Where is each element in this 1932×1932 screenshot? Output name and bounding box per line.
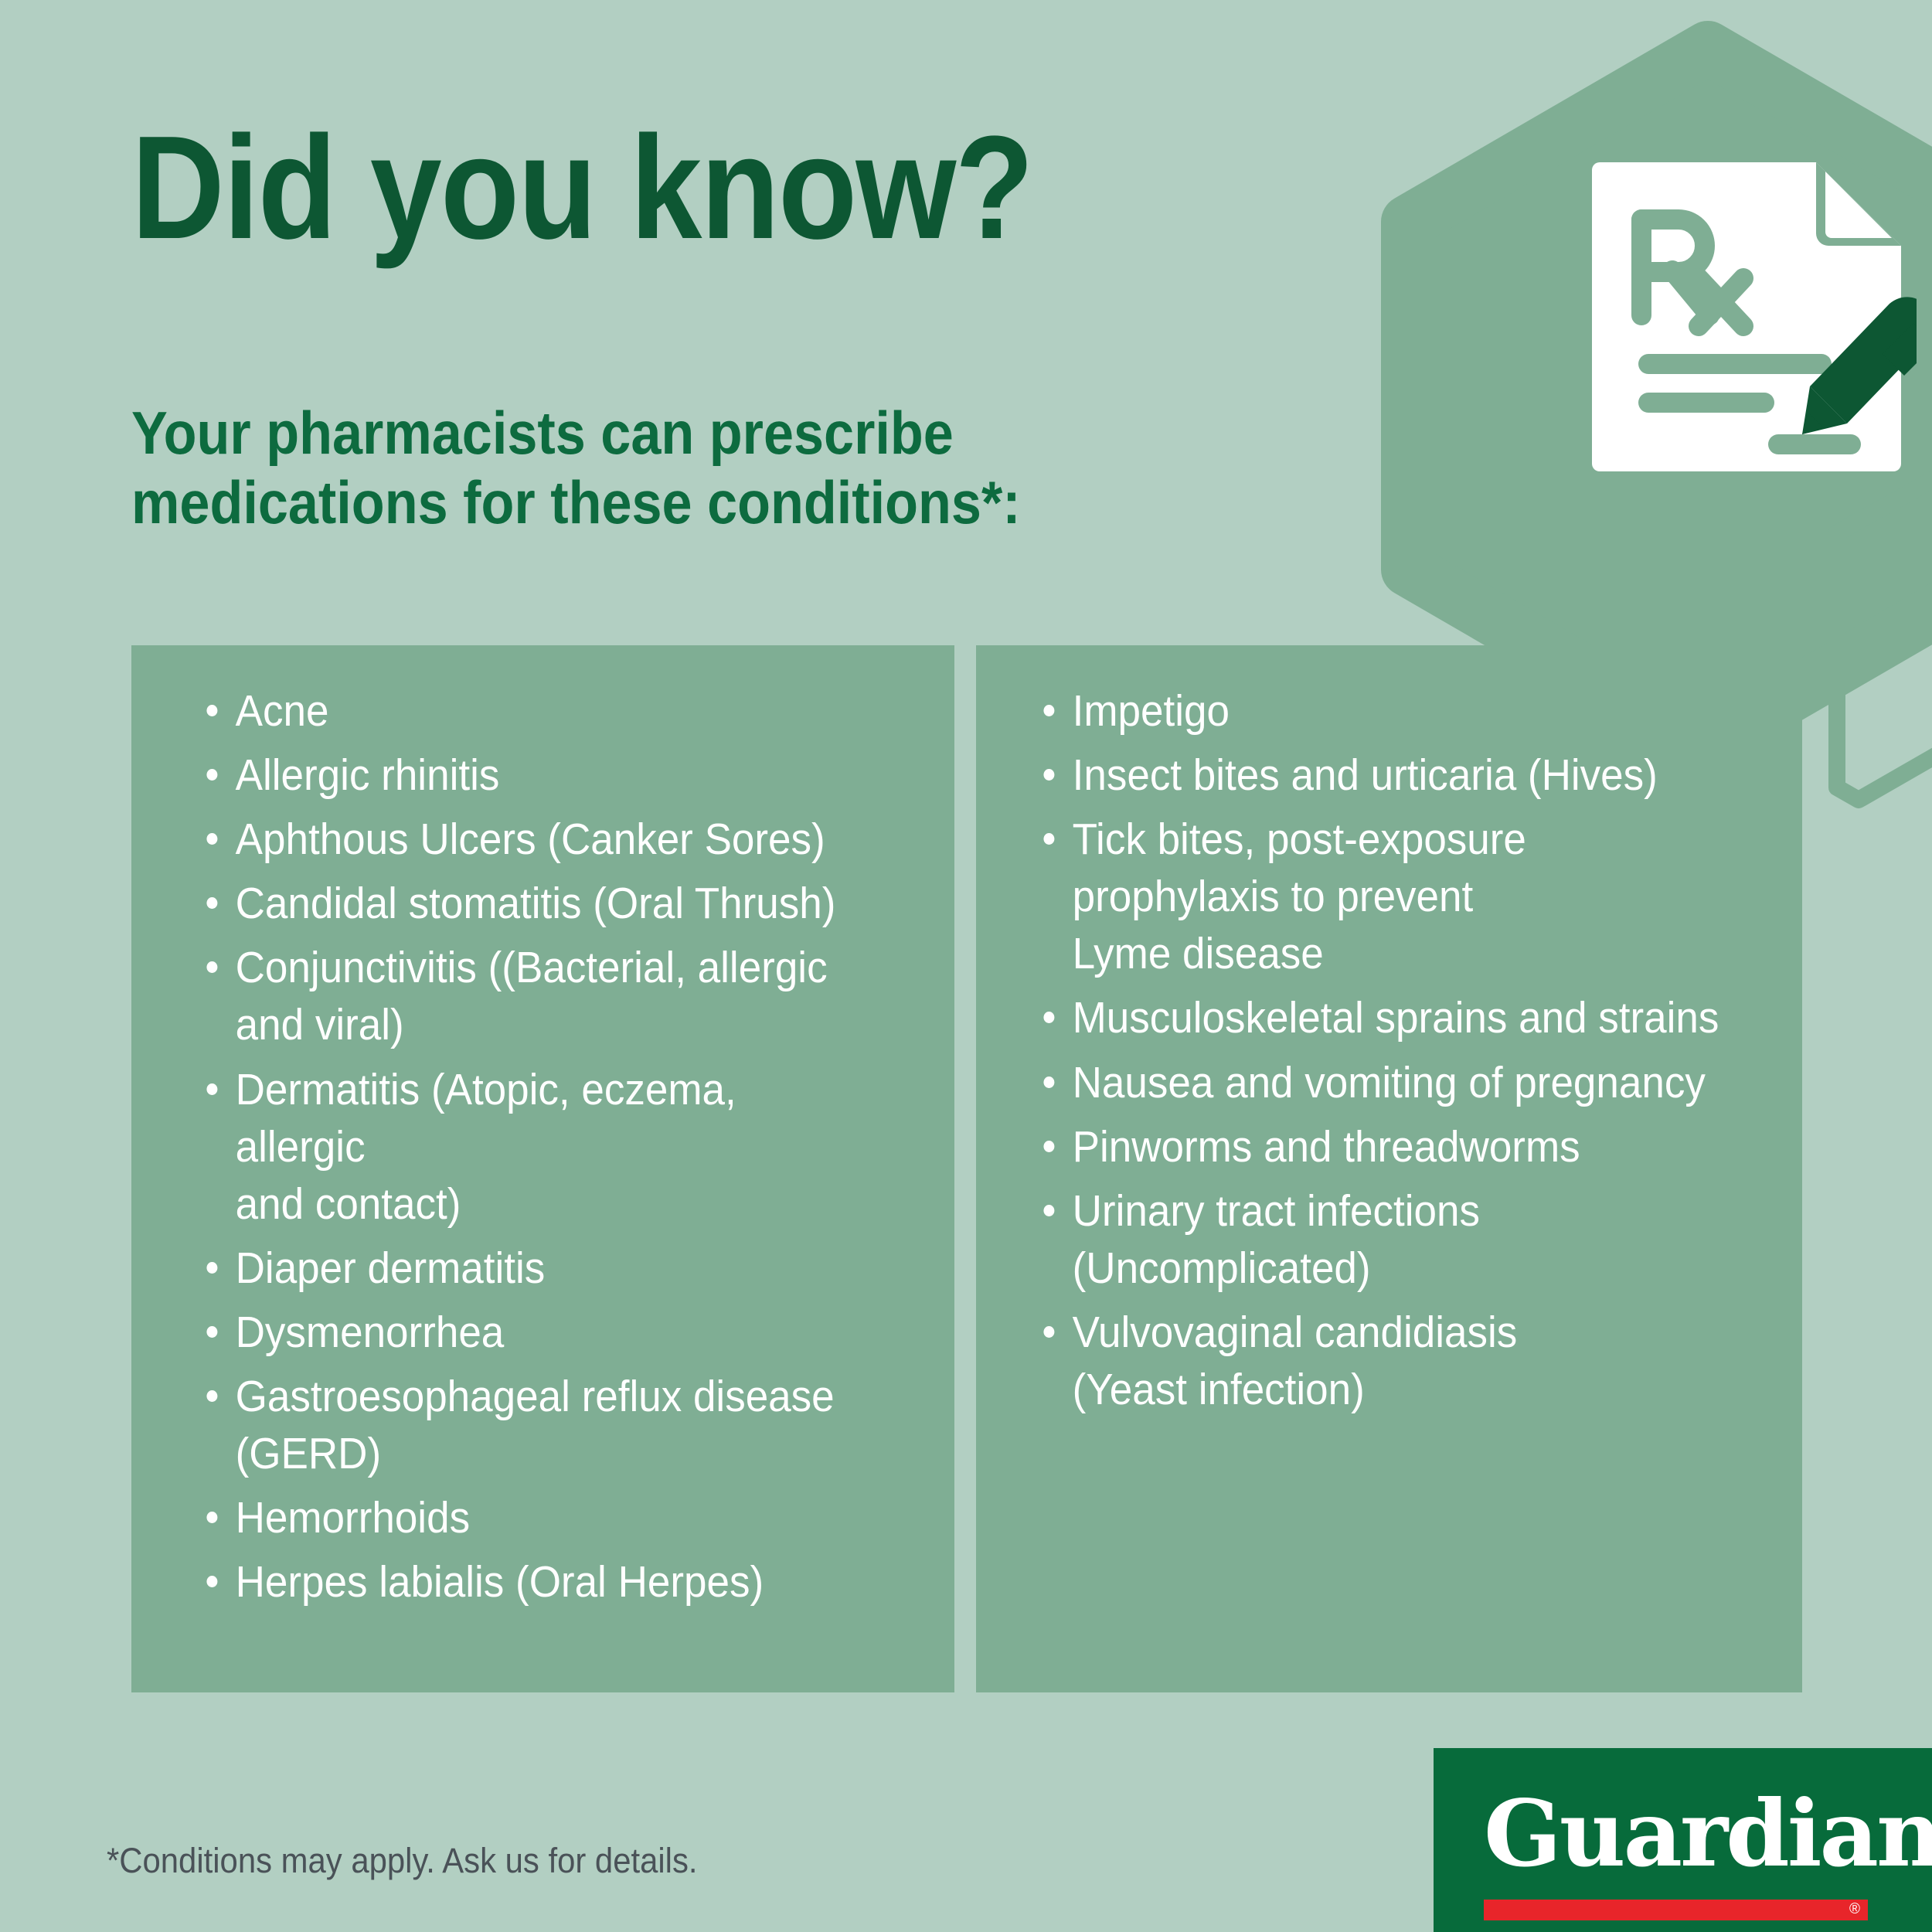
infographic-canvas: Did you know? Your pharmacists can presc… (0, 0, 1932, 1932)
list-item: Dermatitis (Atopic, eczema, allergic and… (201, 1061, 876, 1233)
document-line-1-icon (1638, 354, 1832, 374)
list-item: Aphthous Ulcers (Canker Sores) (201, 811, 876, 868)
list-item: Urinary tract infections (Uncomplicated) (1038, 1182, 1728, 1297)
footnote-disclaimer: *Conditions may apply. Ask us for detail… (107, 1841, 698, 1881)
list-item: Tick bites, post-exposure prophylaxis to… (1038, 811, 1728, 982)
list-item: Nausea and vomiting of pregnancy (1038, 1054, 1728, 1111)
list-item: Allergic rhinitis (201, 747, 876, 804)
list-item: Vulvovaginal candidiasis (Yeast infectio… (1038, 1304, 1728, 1418)
conditions-list-right: Impetigo Insect bites and urticaria (Hiv… (1038, 682, 1780, 1425)
guardian-wordmark: Guardian (1484, 1788, 1932, 1879)
registered-trademark-icon: ® (1845, 1900, 1864, 1919)
list-item: Acne (201, 682, 876, 740)
logo-red-bar (1484, 1900, 1868, 1920)
list-item: Herpes labialis (Oral Herpes) (201, 1553, 876, 1611)
list-item: Candidal stomatitis (Oral Thrush) (201, 875, 876, 932)
list-item: Diaper dermatitis (201, 1240, 876, 1297)
list-item: Insect bites and urticaria (Hives) (1038, 747, 1728, 804)
conditions-list-left: Acne Allergic rhinitis Aphthous Ulcers (… (201, 682, 927, 1617)
guardian-logo: Guardian ® (1434, 1748, 1932, 1932)
rx-prescription-icon (1592, 155, 1917, 479)
list-item: Musculoskeletal sprains and strains (1038, 989, 1728, 1046)
list-item: Pinworms and threadworms (1038, 1118, 1728, 1175)
conditions-panel-left: Acne Allergic rhinitis Aphthous Ulcers (… (131, 645, 954, 1692)
page-subtitle: Your pharmacists can prescribe medicatio… (131, 398, 1021, 538)
document-line-2-icon (1638, 393, 1774, 413)
signature-line-icon (1768, 434, 1861, 454)
page-title: Did you know? (131, 116, 1032, 260)
conditions-panel-right: Impetigo Insect bites and urticaria (Hiv… (976, 645, 1802, 1692)
list-item: Hemorrhoids (201, 1489, 876, 1546)
list-item: Impetigo (1038, 682, 1728, 740)
list-item: Dysmenorrhea (201, 1304, 876, 1361)
list-item: Gastroesophageal reflux disease (GERD) (201, 1368, 876, 1482)
list-item: Conjunctivitis ((Bacterial, allergic and… (201, 939, 876, 1053)
